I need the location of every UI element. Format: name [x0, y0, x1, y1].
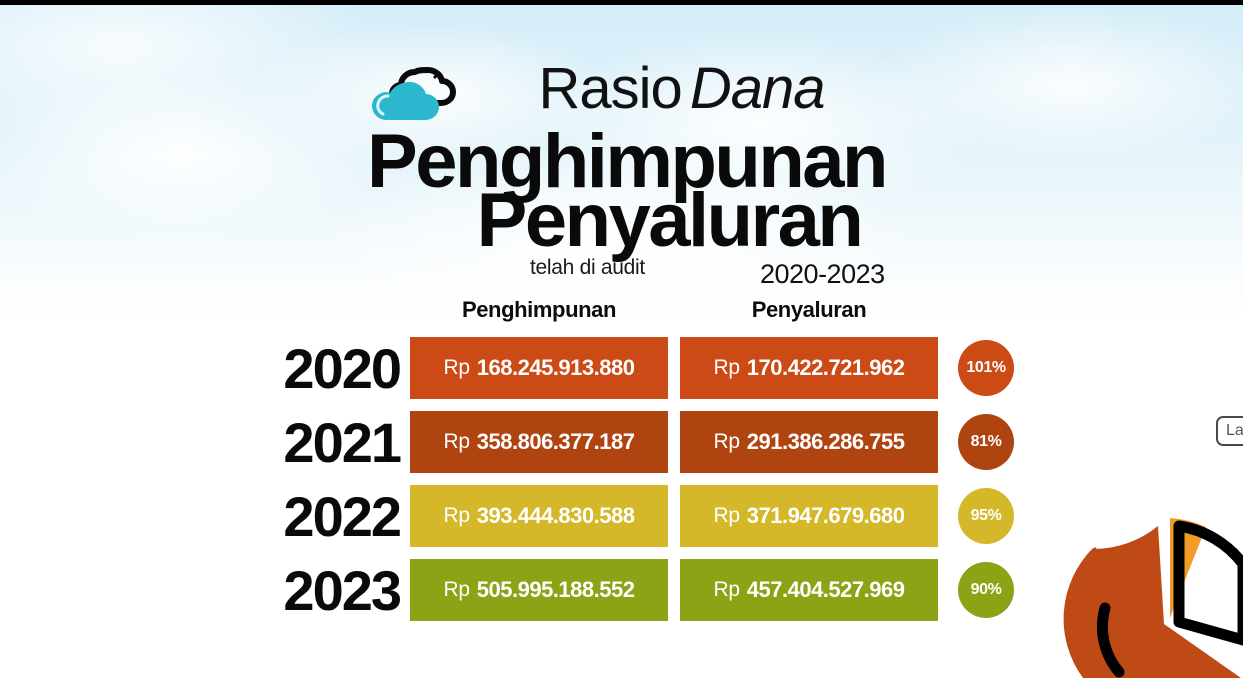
row-penghimpunan-bar: Rp 505.995.188.552 — [410, 559, 668, 621]
penyaluran-amount: 371.947.679.680 — [747, 503, 905, 529]
currency-prefix: Rp — [444, 578, 470, 602]
table-row: 2023 Rp 505.995.188.552 Rp 457.404.527.9… — [0, 554, 1243, 628]
column-header-penghimpunan: Penghimpunan — [410, 297, 668, 323]
title-word-dana: Dana — [690, 56, 825, 121]
currency-prefix: Rp — [714, 430, 740, 454]
penyaluran-amount: 291.386.286.755 — [747, 429, 905, 455]
title-word-rasio: Rasio — [539, 56, 682, 121]
row-percent-badge: 90% — [958, 562, 1014, 618]
table-row: 2020 Rp 168.245.913.880 Rp 170.422.721.9… — [0, 332, 1243, 406]
row-penyaluran-bar: Rp 457.404.527.969 — [680, 559, 938, 621]
row-penghimpunan-bar: Rp 168.245.913.880 — [410, 337, 668, 399]
ratio-table: Penghimpunan Penyaluran 2020 Rp 168.245.… — [0, 297, 1243, 628]
penghimpunan-amount: 505.995.188.552 — [477, 577, 635, 603]
title-line-1: RasioDana — [0, 58, 1243, 120]
row-year-label: 2020 — [232, 341, 400, 397]
row-penyaluran-bar: Rp 371.947.679.680 — [680, 485, 938, 547]
currency-prefix: Rp — [444, 356, 470, 380]
row-penghimpunan-bar: Rp 393.444.830.588 — [410, 485, 668, 547]
row-percent-badge: 81% — [958, 414, 1014, 470]
currency-prefix: Rp — [444, 504, 470, 528]
currency-prefix: Rp — [714, 578, 740, 602]
column-header-penyaluran: Penyaluran — [680, 297, 938, 323]
subtitle-year-range: 2020-2023 — [760, 259, 885, 290]
row-percent-badge: 95% — [958, 488, 1014, 544]
penyaluran-amount: 170.422.721.962 — [747, 355, 905, 381]
penghimpunan-amount: 393.444.830.588 — [477, 503, 635, 529]
tooltip-chip[interactable]: Laz — [1216, 416, 1243, 446]
table-row: 2022 Rp 393.444.830.588 Rp 371.947.679.6… — [0, 480, 1243, 554]
currency-prefix: Rp — [714, 356, 740, 380]
subtitle-audit: telah di audit — [530, 256, 645, 280]
currency-prefix: Rp — [714, 504, 740, 528]
row-year-label: 2023 — [232, 563, 400, 619]
table-column-headers: Penghimpunan Penyaluran — [0, 297, 1243, 332]
currency-prefix: Rp — [444, 430, 470, 454]
penghimpunan-amount: 358.806.377.187 — [477, 429, 635, 455]
top-black-bar — [0, 0, 1243, 5]
row-percent-badge: 101% — [958, 340, 1014, 396]
row-penghimpunan-bar: Rp 358.806.377.187 — [410, 411, 668, 473]
row-year-label: 2021 — [232, 415, 400, 471]
penyaluran-amount: 457.404.527.969 — [747, 577, 905, 603]
title-line-penyaluran: Penyaluran — [0, 180, 1243, 262]
tooltip-chip-label: Laz — [1226, 422, 1243, 440]
row-penyaluran-bar: Rp 170.422.721.962 — [680, 337, 938, 399]
row-penyaluran-bar: Rp 291.386.286.755 — [680, 411, 938, 473]
row-year-label: 2022 — [232, 489, 400, 545]
infographic-page: RasioDana Penghimpunan Penyaluran telah … — [0, 0, 1243, 678]
header: RasioDana Penghimpunan Penyaluran telah … — [0, 28, 1243, 273]
penghimpunan-amount: 168.245.913.880 — [477, 355, 635, 381]
table-row: 2021 Rp 358.806.377.187 Rp 291.386.286.7… — [0, 406, 1243, 480]
